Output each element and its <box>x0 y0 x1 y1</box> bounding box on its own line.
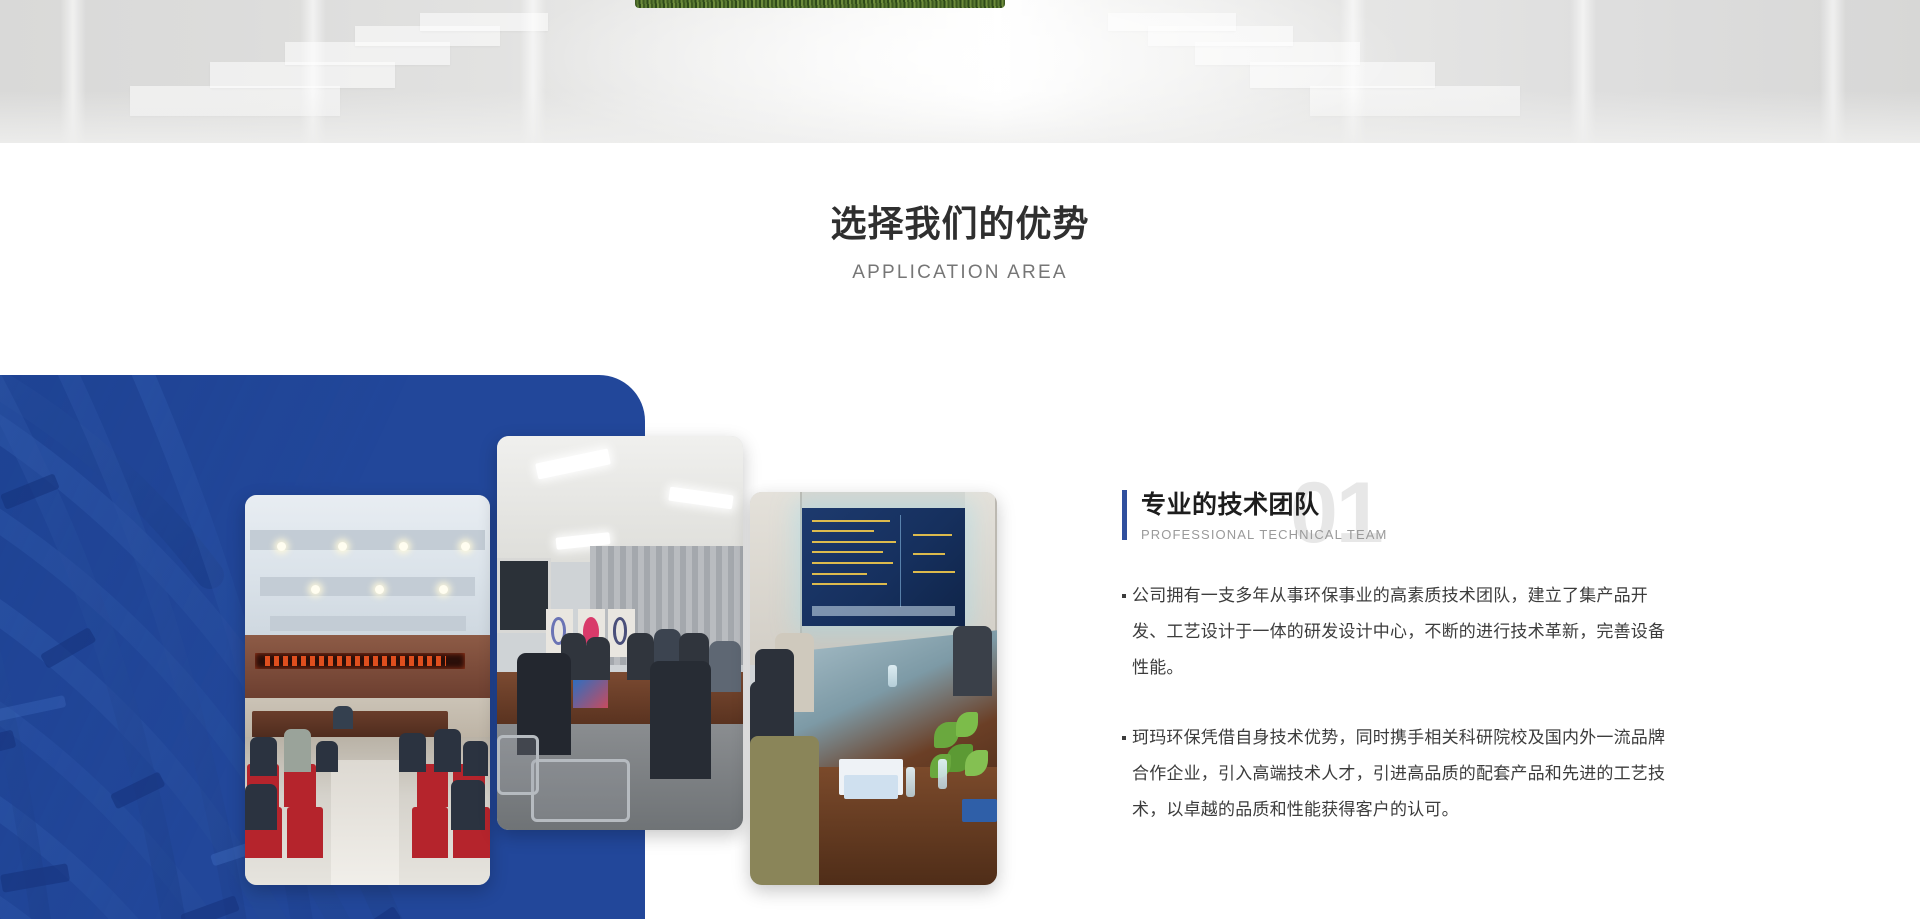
section-header: 选择我们的优势 APPLICATION AREA <box>0 200 1920 286</box>
feature-header: 01 专业的技术团队 PROFESSIONAL TECHNICAL TEAM <box>1122 488 1682 562</box>
page-title: 选择我们的优势 <box>0 200 1920 248</box>
gallery-photo-projector[interactable] <box>750 492 997 885</box>
page-subtitle: APPLICATION AREA <box>0 260 1920 286</box>
feature-block: 01 专业的技术团队 PROFESSIONAL TECHNICAL TEAM 公… <box>1122 488 1682 828</box>
gallery-photo-meeting[interactable] <box>497 436 743 830</box>
feature-paragraph: 公司拥有一支多年从事环保事业的高素质技术团队，建立了集产品开发、工艺设计于一体的… <box>1122 578 1682 686</box>
accent-bar <box>1122 490 1127 540</box>
hero-banner <box>0 0 1920 143</box>
feature-body: 公司拥有一支多年从事环保事业的高素质技术团队，建立了集产品开发、工艺设计于一体的… <box>1122 578 1682 828</box>
gallery-photo-auditorium[interactable] <box>245 495 490 885</box>
page-root: 选择我们的优势 APPLICATION AREA <box>0 0 1920 919</box>
feature-paragraph: 珂玛环保凭借自身技术优势，同时携手相关科研院校及国内外一流品牌合作企业，引入高端… <box>1122 720 1682 828</box>
feature-subtitle: PROFESSIONAL TECHNICAL TEAM <box>1141 526 1387 544</box>
grass-strip-icon <box>635 0 1005 8</box>
feature-title: 专业的技术团队 <box>1141 488 1320 522</box>
